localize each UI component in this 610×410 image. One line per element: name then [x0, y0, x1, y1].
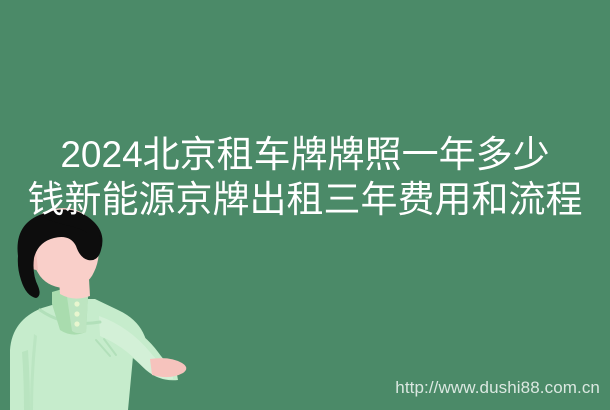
page-title-line-2: 钱新能源京牌出租三年费用和流程	[0, 177, 610, 222]
article-cover-image: 2024北京租车牌牌照一年多少 钱新能源京牌出租三年费用和流程 http://w…	[0, 0, 610, 410]
hand-shape	[150, 358, 186, 377]
page-title: 2024北京租车牌牌照一年多少 钱新能源京牌出租三年费用和流程	[0, 132, 610, 222]
watermark-url: http://www.dushi88.com.cn	[395, 378, 600, 398]
page-title-line-1: 2024北京租车牌牌照一年多少	[0, 132, 610, 177]
person-illustration	[0, 200, 200, 410]
hoodie-shape	[10, 299, 178, 410]
